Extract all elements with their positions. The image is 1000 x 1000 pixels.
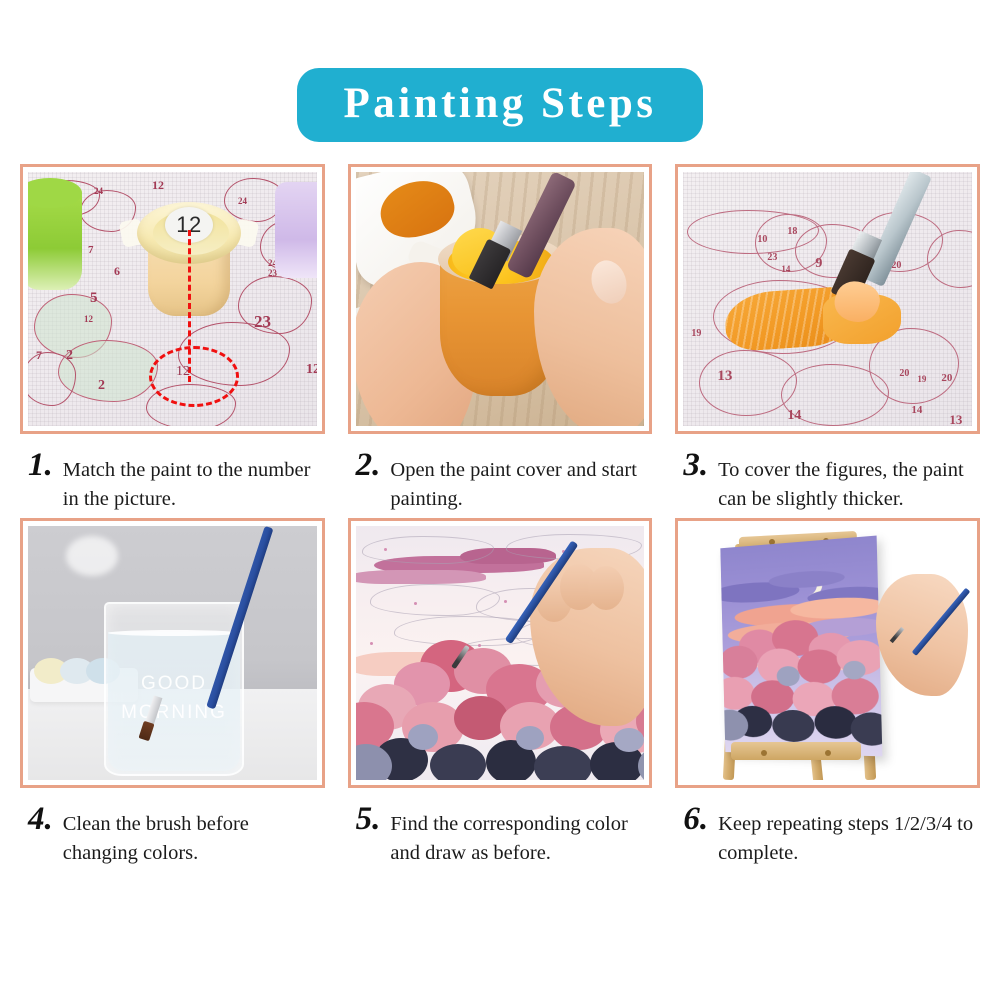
step-card-4: GOOD MORNING 4. Clean the brush before c… (20, 518, 325, 872)
step-description: Keep repeating steps 1/2/3/4 to complete… (718, 802, 974, 868)
canvas-number: 23 (767, 252, 777, 263)
canvas-number: 24 (94, 186, 103, 196)
step-3-photo-frame: 10 18 23 14 9 20 19 20 13 14 20 19 20 14… (675, 164, 980, 434)
page-title: Painting Steps (343, 81, 656, 126)
step-3-caption: 3. To cover the figures, the paint can b… (675, 434, 980, 518)
step-5-caption: 5. Find the corresponding color and draw… (348, 788, 653, 872)
step-5-photo-frame (348, 518, 653, 788)
canvas-number: 2 (98, 378, 105, 394)
canvas-number: 2 (66, 348, 73, 364)
canvas-number: 12 (306, 362, 317, 378)
step-6-photo-frame (675, 518, 980, 788)
finished-canvas (721, 536, 883, 757)
glass-text-line-1: GOOD (141, 673, 207, 694)
easel-tray (731, 742, 861, 760)
red-dashed-highlight-ellipse (149, 346, 239, 407)
brush-applying-orange-paint-to-numbered-canvas-photo: 10 18 23 14 9 20 19 20 13 14 20 19 20 14… (683, 172, 972, 426)
step-number: 3. (683, 448, 708, 481)
step-description: Open the paint cover and start painting. (390, 448, 646, 514)
canvas-number: 19 (691, 328, 701, 339)
steps-grid: 12 24 2 24 7 6 5 12 23 24 23 7 2 2 12 (0, 142, 1000, 872)
canvas-number: 14 (787, 408, 801, 424)
canvas-number: 14 (781, 264, 790, 274)
brush-rinsing-in-glass-of-water-photo: GOOD MORNING (28, 526, 317, 780)
step-description: Find the corresponding color and draw as… (390, 802, 646, 868)
step-card-1: 12 24 2 24 7 6 5 12 23 24 23 7 2 2 12 (20, 164, 325, 518)
step-card-2: 2. Open the paint cover and start painti… (348, 164, 653, 518)
canvas-number: 13 (717, 368, 732, 385)
canvas-number: 23 (254, 312, 271, 332)
step-description: Match the paint to the number in the pic… (63, 448, 319, 514)
canvas-number: 5 (90, 290, 98, 307)
purple-paint-pot (275, 182, 317, 278)
step-number: 6. (683, 802, 708, 835)
hand-holding-open-paint-pot-with-brush-photo (356, 172, 645, 426)
step-6-caption: 6. Keep repeating steps 1/2/3/4 to compl… (675, 788, 980, 872)
canvas-number: 19 (917, 374, 926, 384)
canvas-number: 10 (757, 234, 767, 245)
header: Painting Steps (0, 0, 1000, 142)
step-number: 4. (28, 802, 53, 835)
canvas-number: 12 (152, 178, 164, 193)
background-blur-object (66, 536, 118, 576)
painted-cherry-blossoms (721, 637, 883, 756)
step-number: 2. (356, 448, 381, 481)
hand-painting-cherry-blossom-canvas-photo (356, 526, 645, 780)
step-card-5: 5. Find the corresponding color and draw… (348, 518, 653, 872)
step-4-caption: 4. Clean the brush before changing color… (20, 788, 325, 872)
canvas-number: 7 (36, 348, 42, 363)
water-glass: GOOD MORNING (104, 602, 244, 776)
step-card-6: 6. Keep repeating steps 1/2/3/4 to compl… (675, 518, 980, 872)
step-2-photo-frame (348, 164, 653, 434)
canvas-number: 12 (84, 314, 93, 324)
page-title-pill: Painting Steps (297, 68, 702, 142)
step-1-photo-frame: 12 24 2 24 7 6 5 12 23 24 23 7 2 2 12 (20, 164, 325, 434)
canvas-number: 20 (941, 372, 952, 384)
step-card-3: 10 18 23 14 9 20 19 20 13 14 20 19 20 14… (675, 164, 980, 518)
step-description: To cover the figures, the paint can be s… (718, 448, 974, 514)
canvas-number: 6 (114, 264, 120, 279)
canvas-number: 9 (815, 256, 822, 272)
step-number: 1. (28, 448, 53, 481)
step-description: Clean the brush before changing colors. (63, 802, 319, 868)
target-canvas-number: 12 (176, 364, 190, 380)
step-4-photo-frame: GOOD MORNING (20, 518, 325, 788)
step-1-caption: 1. Match the paint to the number in the … (20, 434, 325, 518)
finished-painting-on-wooden-easel-photo (683, 526, 972, 780)
canvas-number: 14 (911, 404, 922, 416)
paint-pot-matched-to-canvas-number-photo: 12 24 2 24 7 6 5 12 23 24 23 7 2 2 12 (28, 172, 317, 426)
step-number: 5. (356, 802, 381, 835)
canvas-number: 7 (88, 244, 94, 256)
canvas-number: 20 (899, 368, 909, 379)
canvas-number: 18 (787, 226, 797, 237)
step-2-caption: 2. Open the paint cover and start painti… (348, 434, 653, 518)
canvas-number: 13 (949, 412, 962, 426)
